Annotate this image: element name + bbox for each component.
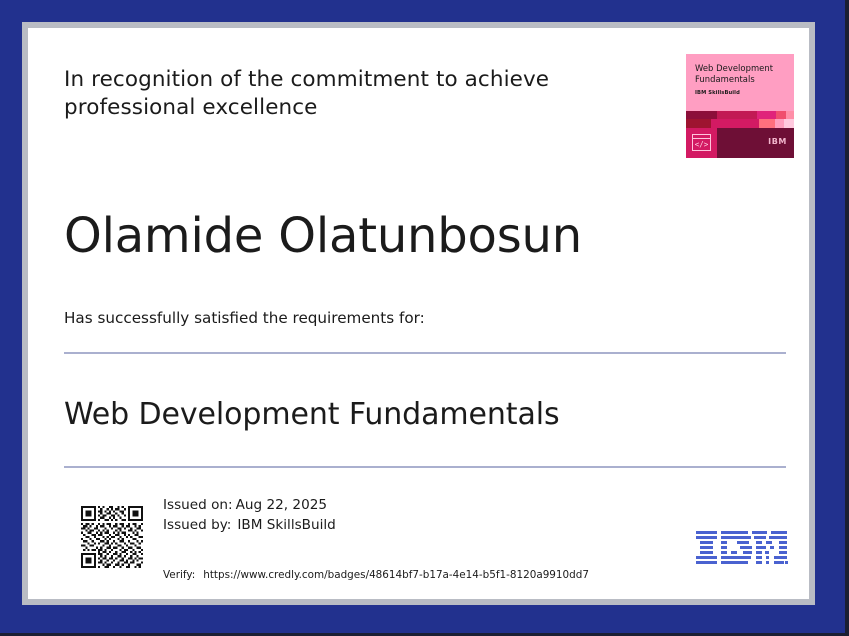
issued-on-label: Issued on: [163, 497, 233, 513]
qr-code[interactable] [80, 506, 144, 568]
certificate-card: In recognition of the commitment to achi… [28, 28, 809, 599]
code-window-icon: </> [692, 134, 711, 151]
credential-badge-art: Web Development Fundamentals IBM SkillsB… [686, 54, 794, 158]
verify-url[interactable]: https://www.credly.com/badges/48614bf7-b… [203, 569, 589, 581]
divider-top [64, 352, 786, 354]
verify-line: Verify:https://www.credly.com/badges/486… [163, 568, 589, 582]
issue-details: Issued on:Aug 22, 2025 Issued by:IBM Ski… [163, 495, 336, 535]
issued-on-line: Issued on:Aug 22, 2025 [163, 495, 336, 515]
issued-by-value: IBM SkillsBuild [237, 517, 335, 533]
certificate-subline: Has successfully satisfied the requireme… [64, 307, 425, 329]
qr-code-icon [80, 506, 144, 568]
certificate-page: In recognition of the commitment to achi… [0, 0, 849, 636]
verify-label: Verify: [163, 569, 195, 581]
badge-footer: </> IBM [686, 128, 794, 158]
recipient-name: Olamide Olatunbosun [64, 206, 582, 266]
ibm-logo-icon [696, 530, 788, 568]
issued-by-line: Issued by:IBM SkillsBuild [163, 515, 336, 535]
ibm-logo [696, 530, 788, 568]
certificate-headline: In recognition of the commitment to achi… [64, 66, 634, 122]
badge-subtitle: IBM SkillsBuild [695, 90, 740, 96]
badge-color-band-row-1 [686, 111, 794, 119]
issued-by-label: Issued by: [163, 517, 231, 533]
divider-bottom [64, 466, 786, 468]
certificate-frame: In recognition of the commitment to achi… [22, 22, 815, 605]
course-title: Web Development Fundamentals [64, 395, 560, 435]
badge-code-tile: </> [686, 128, 717, 158]
badge-color-band-row-2 [686, 119, 794, 128]
issued-on-value: Aug 22, 2025 [236, 497, 327, 513]
badge-ibm-wordmark: IBM [768, 137, 787, 146]
badge-title: Web Development Fundamentals [695, 63, 787, 85]
code-glyph: </> [693, 139, 710, 151]
